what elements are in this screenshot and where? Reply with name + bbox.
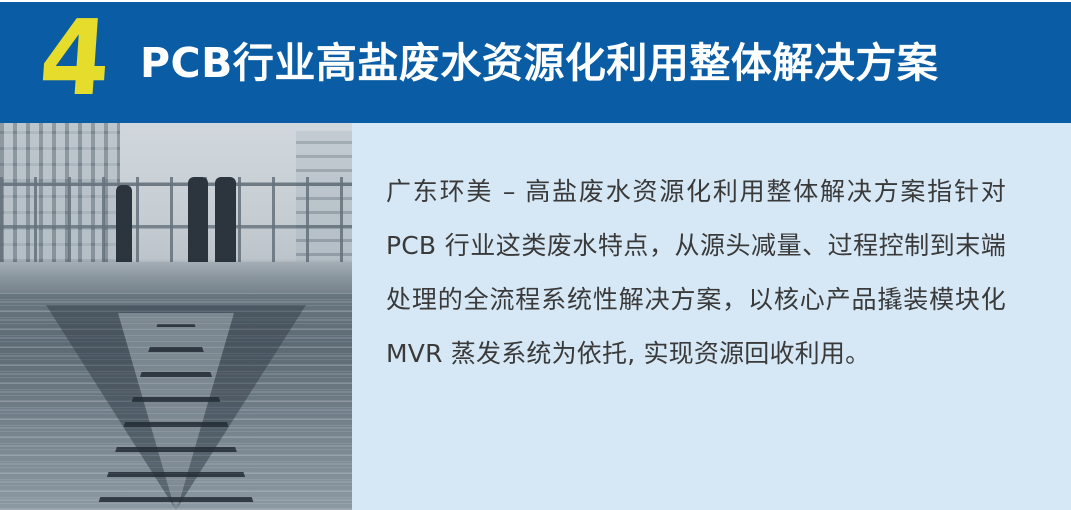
photo-worker-figure — [116, 185, 132, 270]
banner-page: 4 PCB行业高盐废水资源化利用整体解决方案 广东环美 – 高盐废水资源化利用整… — [0, 0, 1071, 510]
photo-water-ripples — [0, 293, 352, 510]
section-number: 4 — [16, 6, 131, 110]
treatment-plant-photo — [0, 123, 352, 510]
photo-worker-figure — [215, 177, 236, 270]
header-bar: 4 PCB行业高盐废水资源化利用整体解决方案 — [0, 2, 1071, 123]
description-panel: 广东环美 – 高盐废水资源化利用整体解决方案指针对PCB 行业这类废水特点，从源… — [352, 123, 1071, 510]
content-row: 广东环美 – 高盐废水资源化利用整体解决方案指针对PCB 行业这类废水特点，从源… — [0, 123, 1071, 510]
photo-worker-figure — [188, 177, 207, 270]
page-title: PCB行业高盐废水资源化利用整体解决方案 — [140, 39, 938, 87]
photo-walkway — [0, 262, 352, 297]
photo-railing — [0, 177, 352, 266]
description-text: 广东环美 – 高盐废水资源化利用整体解决方案指针对PCB 行业这类废水特点，从源… — [386, 165, 1006, 381]
